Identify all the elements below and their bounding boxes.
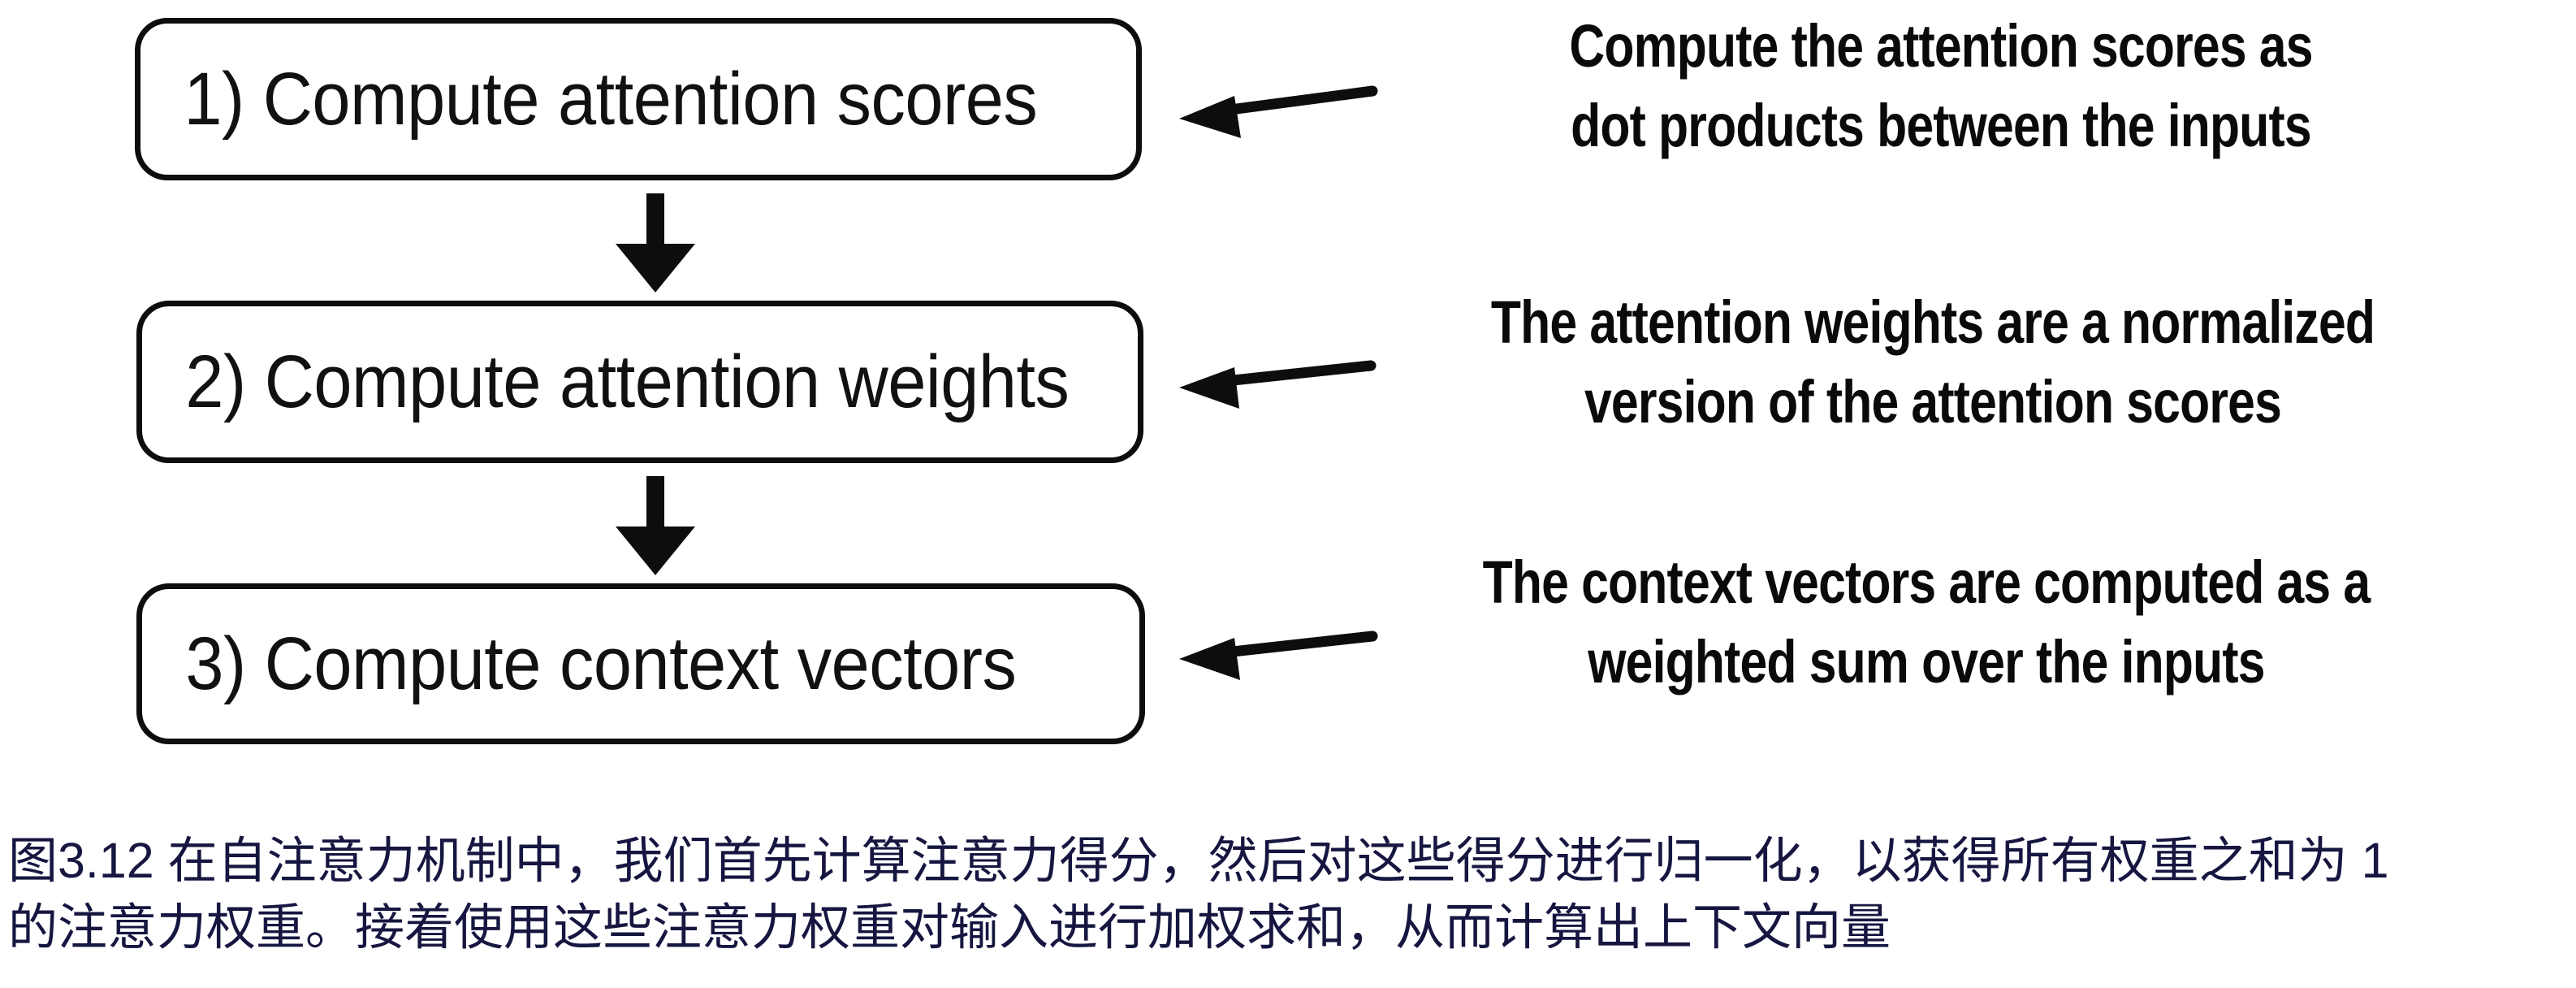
annotation-2-line-1: The attention weights are a normalized [1427,283,2439,362]
flow-step-box-2[interactable]: 2) Compute attention weights [136,301,1143,463]
arrow-left-icon [1179,636,1372,680]
figure-canvas: 1) Compute attention scores 2) Compute a… [0,0,2576,988]
figure-caption-line-2: 的注意力权重。接着使用这些注意力权重对输入进行加权求和，从而计算出上下文向量 [8,894,2574,960]
figure-caption-line-1: 图3.12 在自注意力机制中，我们首先计算注意力得分，然后对这些得分进行归一化，… [8,827,2574,894]
flow-step-label-2: 2) Compute attention weights [142,344,1069,419]
flow-step-label-1: 1) Compute attention scores [140,62,1037,136]
figure-caption: 图3.12 在自注意力机制中，我们首先计算注意力得分，然后对这些得分进行归一化，… [8,827,2574,960]
annotation-2-line-2: version of the attention scores [1427,362,2439,442]
flow-step-box-3[interactable]: 3) Compute context vectors [136,583,1145,744]
arrow-left-icon [1179,91,1372,138]
arrow-left-icon [1179,366,1371,409]
annotation-1-line-2: dot products between the inputs [1441,86,2440,166]
annotation-3-line-2: weighted sum over the inputs [1420,622,2432,702]
flow-step-label-3: 3) Compute context vectors [142,626,1016,701]
flow-step-box-1[interactable]: 1) Compute attention scores [135,18,1142,180]
annotation-text-1: Compute the attention scores as dot prod… [1441,6,2440,166]
annotation-3-line-1: The context vectors are computed as a [1420,543,2432,622]
annotation-text-3: The context vectors are computed as a we… [1420,543,2432,702]
arrow-down-icon [616,193,695,292]
arrow-down-icon [616,476,695,575]
annotation-text-2: The attention weights are a normalized v… [1427,283,2439,442]
annotation-1-line-1: Compute the attention scores as [1441,6,2440,86]
